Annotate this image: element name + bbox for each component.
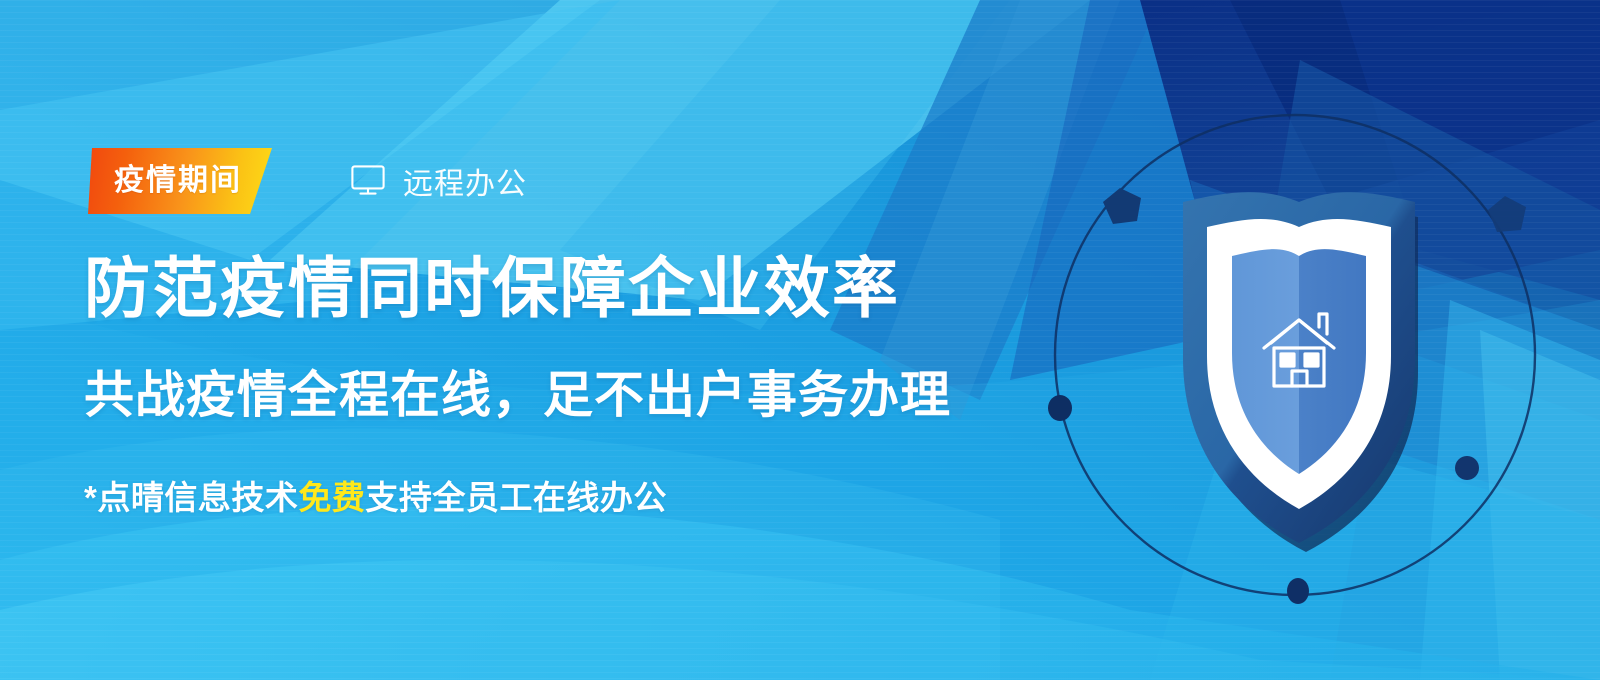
footnote-highlight: 免费 [298,479,365,516]
badge-label: 疫情期间 [114,166,242,196]
promo-banner: 疫情期间 远程办公 防范疫情同时保障企业效率 共战疫情全程在线，足不出户事务办理… [0,0,1600,680]
footnote: *点晴信息技术免费支持全员工在线办公 [84,481,667,514]
shield-with-house-icon [0,0,1600,680]
footnote-prefix: *点晴信息技术 [84,479,298,516]
footnote-suffix: 支持全员工在线办公 [365,479,667,516]
status-badge: 疫情期间 [88,148,272,214]
monitor-icon [350,164,386,198]
remote-office-group: 远程办公 [350,159,527,203]
badge-row: 疫情期间 远程办公 [88,148,527,214]
page-title: 防范疫情同时保障企业效率 [84,255,900,321]
remote-office-label: 远程办公 [403,159,527,203]
page-subtitle: 共战疫情全程在线，足不出户事务办理 [84,370,951,420]
